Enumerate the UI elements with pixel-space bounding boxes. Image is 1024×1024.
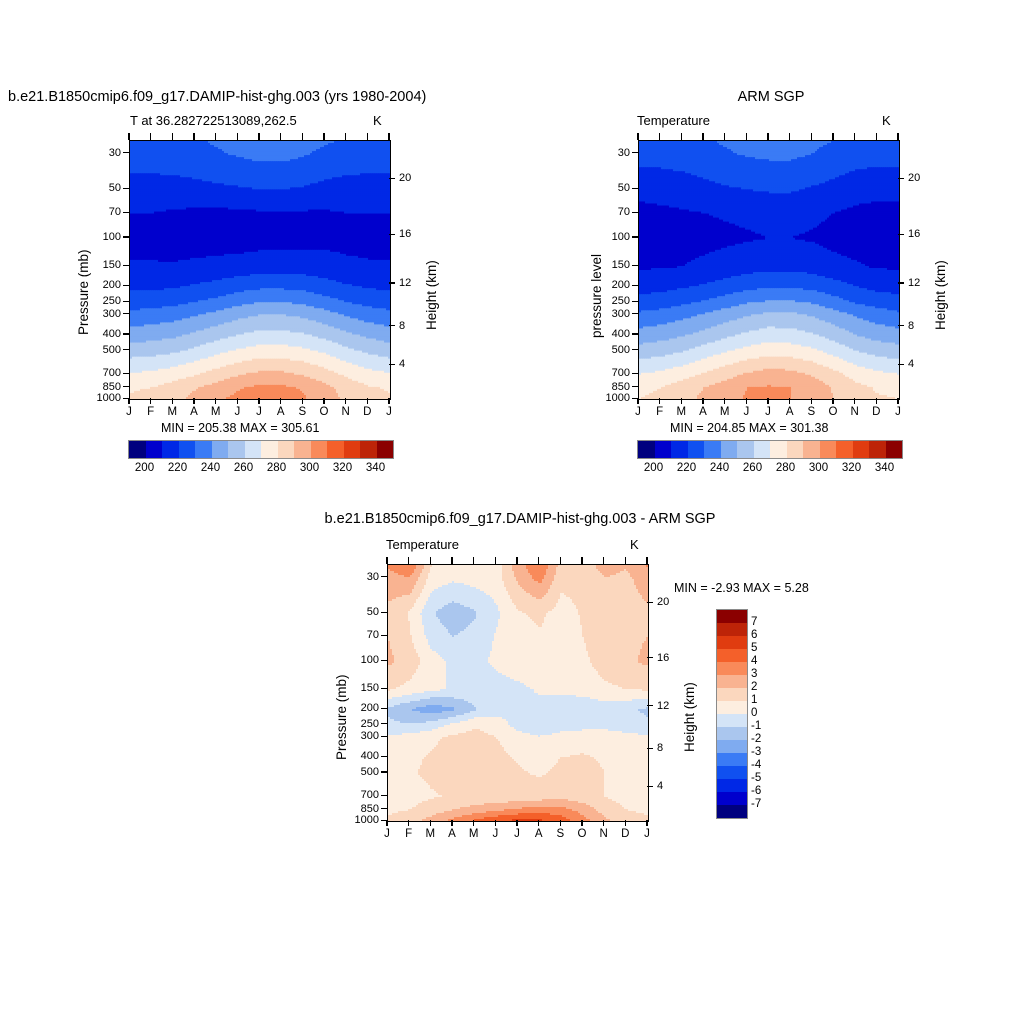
diff-panel-units: K bbox=[630, 537, 639, 552]
axis-tick-mark bbox=[323, 133, 324, 140]
diff-yaxis-right-label: Height (km) bbox=[682, 682, 697, 752]
axis-tick-mark bbox=[897, 133, 898, 140]
axis-tick-mark bbox=[237, 133, 238, 140]
colorbar-cell bbox=[344, 441, 361, 458]
colorbar-cell bbox=[836, 441, 853, 458]
month-tick-label: J bbox=[765, 406, 771, 418]
axis-tick-mark bbox=[150, 398, 151, 404]
axis-tick-mark bbox=[389, 282, 395, 283]
axis-tick-mark bbox=[538, 820, 539, 826]
axis-tick-mark bbox=[646, 557, 647, 564]
axis-tick-mark bbox=[473, 820, 474, 826]
month-tick-label: J bbox=[492, 828, 498, 840]
axis-tick-mark bbox=[637, 133, 638, 140]
axis-tick-mark bbox=[123, 301, 129, 302]
colorbar-cell bbox=[129, 441, 146, 458]
obs-yaxis-right-label: Height (km) bbox=[933, 260, 948, 330]
axis-tick-mark bbox=[172, 398, 173, 404]
obs-minmax-text: MIN = 204.85 MAX = 301.38 bbox=[670, 421, 828, 435]
colorbar-tick-label: 240 bbox=[201, 462, 220, 474]
axis-tick-mark bbox=[172, 133, 173, 140]
axis-tick-mark bbox=[646, 820, 647, 826]
axis-tick-mark bbox=[702, 133, 703, 140]
axis-tick-mark bbox=[767, 133, 768, 140]
model-yaxis-label: Pressure (mb) bbox=[76, 249, 91, 335]
axis-tick-mark bbox=[473, 557, 474, 564]
axis-tick-mark bbox=[123, 313, 129, 314]
axis-tick-mark bbox=[193, 398, 194, 404]
colorbar-cell bbox=[294, 441, 311, 458]
axis-tick-mark bbox=[237, 398, 238, 404]
axis-tick-mark bbox=[898, 364, 904, 365]
diff-colorbar[interactable] bbox=[716, 609, 748, 819]
month-tick-label: A bbox=[535, 828, 543, 840]
colorbar-cell bbox=[278, 441, 295, 458]
axis-tick-mark bbox=[632, 313, 638, 314]
axis-tick-mark bbox=[150, 133, 151, 140]
colorbar-cell bbox=[717, 701, 747, 714]
axis-tick-mark bbox=[702, 398, 703, 404]
axis-tick-mark bbox=[637, 398, 638, 404]
model-panel-units: K bbox=[373, 113, 382, 128]
month-tick-label: J bbox=[126, 406, 132, 418]
month-tick-label: N bbox=[342, 406, 350, 418]
pressure-tick-label: 700 bbox=[349, 789, 379, 801]
height-tick-label: 16 bbox=[657, 652, 669, 664]
axis-tick-mark bbox=[381, 660, 387, 661]
axis-tick-mark bbox=[647, 657, 653, 658]
axis-tick-mark bbox=[302, 133, 303, 140]
colorbar-cell bbox=[717, 688, 747, 701]
axis-tick-mark bbox=[123, 386, 129, 387]
colorbar-cell bbox=[717, 740, 747, 753]
pressure-tick-label: 850 bbox=[349, 803, 379, 815]
diff-yaxis-label: Pressure (mb) bbox=[334, 674, 349, 760]
pressure-tick-label: 850 bbox=[91, 381, 121, 393]
axis-tick-mark bbox=[345, 133, 346, 140]
axis-tick-mark bbox=[811, 398, 812, 404]
month-tick-label: M bbox=[469, 828, 479, 840]
month-tick-label: D bbox=[363, 406, 371, 418]
colorbar-cell bbox=[245, 441, 262, 458]
pressure-tick-label: 1000 bbox=[349, 814, 379, 826]
month-tick-label: A bbox=[699, 406, 707, 418]
axis-tick-mark bbox=[632, 212, 638, 213]
height-tick-label: 8 bbox=[657, 742, 663, 754]
pressure-tick-label: 250 bbox=[91, 295, 121, 307]
axis-tick-mark bbox=[681, 133, 682, 140]
colorbar-tick-label: 340 bbox=[366, 462, 385, 474]
pressure-tick-label: 850 bbox=[600, 381, 630, 393]
height-tick-label: 12 bbox=[908, 277, 920, 289]
month-tick-label: O bbox=[829, 406, 838, 418]
axis-tick-mark bbox=[302, 398, 303, 404]
pressure-tick-label: 100 bbox=[91, 231, 121, 243]
month-tick-label: J bbox=[895, 406, 901, 418]
colorbar-cell bbox=[803, 441, 820, 458]
colorbar-cell bbox=[377, 441, 394, 458]
diff-panel-title: b.e21.B1850cmip6.f09_g17.DAMIP-hist-ghg.… bbox=[325, 511, 716, 527]
axis-tick-mark bbox=[681, 398, 682, 404]
axis-tick-mark bbox=[724, 398, 725, 404]
colorbar-cell bbox=[146, 441, 163, 458]
axis-tick-mark bbox=[647, 705, 653, 706]
obs-panel-units: K bbox=[882, 113, 891, 128]
axis-tick-mark bbox=[560, 557, 561, 564]
month-tick-label: J bbox=[743, 406, 749, 418]
height-tick-label: 20 bbox=[908, 172, 920, 184]
colorbar-cell bbox=[638, 441, 655, 458]
colorbar-cell bbox=[869, 441, 886, 458]
axis-tick-mark bbox=[451, 557, 452, 564]
axis-tick-mark bbox=[603, 820, 604, 826]
pressure-tick-label: 100 bbox=[600, 231, 630, 243]
month-tick-label: A bbox=[190, 406, 198, 418]
axis-tick-mark bbox=[123, 188, 129, 189]
axis-tick-mark bbox=[123, 373, 129, 374]
axis-tick-mark bbox=[625, 820, 626, 826]
axis-tick-mark bbox=[128, 133, 129, 140]
colorbar-tick-label: -7 bbox=[751, 798, 761, 810]
colorbar-cell bbox=[717, 727, 747, 740]
axis-tick-mark bbox=[389, 364, 395, 365]
axis-tick-mark bbox=[647, 748, 653, 749]
axis-tick-mark bbox=[381, 708, 387, 709]
axis-tick-mark bbox=[451, 820, 452, 826]
axis-tick-mark bbox=[258, 133, 259, 140]
axis-tick-mark bbox=[516, 820, 517, 826]
colorbar-cell bbox=[704, 441, 721, 458]
pressure-tick-label: 70 bbox=[91, 206, 121, 218]
month-tick-label: S bbox=[807, 406, 815, 418]
axis-tick-mark bbox=[811, 133, 812, 140]
height-tick-label: 12 bbox=[657, 700, 669, 712]
axis-tick-mark bbox=[280, 133, 281, 140]
axis-tick-mark bbox=[215, 133, 216, 140]
colorbar-cell bbox=[717, 766, 747, 779]
axis-tick-mark bbox=[389, 234, 395, 235]
pressure-tick-label: 300 bbox=[600, 308, 630, 320]
pressure-tick-label: 700 bbox=[91, 367, 121, 379]
month-tick-label: M bbox=[168, 406, 178, 418]
colorbar-tick-label: 2 bbox=[751, 681, 757, 693]
axis-tick-mark bbox=[632, 386, 638, 387]
colorbar-cell bbox=[754, 441, 771, 458]
axis-tick-mark bbox=[495, 820, 496, 826]
colorbar-cell bbox=[717, 805, 747, 818]
model-contour-plot[interactable] bbox=[129, 140, 391, 400]
axis-tick-mark bbox=[659, 398, 660, 404]
height-tick-label: 8 bbox=[399, 320, 405, 332]
axis-tick-mark bbox=[898, 282, 904, 283]
pressure-tick-label: 500 bbox=[91, 344, 121, 356]
height-tick-label: 16 bbox=[399, 228, 411, 240]
colorbar-cell bbox=[671, 441, 688, 458]
obs-contour-plot[interactable] bbox=[638, 140, 900, 400]
pressure-tick-label: 150 bbox=[600, 259, 630, 271]
height-tick-label: 20 bbox=[657, 596, 669, 608]
month-tick-label: A bbox=[786, 406, 794, 418]
pressure-tick-label: 150 bbox=[349, 682, 379, 694]
colorbar-tick-label: -1 bbox=[751, 720, 761, 732]
colorbar-tick-label: 0 bbox=[751, 707, 757, 719]
colorbar-cell bbox=[886, 441, 903, 458]
colorbar-cell bbox=[212, 441, 229, 458]
model-minmax-text: MIN = 205.38 MAX = 305.61 bbox=[161, 421, 319, 435]
axis-tick-mark bbox=[258, 398, 259, 404]
axis-tick-mark bbox=[381, 576, 387, 577]
pressure-tick-label: 500 bbox=[349, 766, 379, 778]
axis-tick-mark bbox=[381, 723, 387, 724]
model-colorbar[interactable] bbox=[128, 440, 394, 459]
colorbar-cell bbox=[770, 441, 787, 458]
colorbar-tick-label: 280 bbox=[776, 462, 795, 474]
month-tick-label: M bbox=[211, 406, 221, 418]
axis-tick-mark bbox=[603, 557, 604, 564]
colorbar-tick-label: -2 bbox=[751, 733, 761, 745]
diff-panel-subtitle: Temperature bbox=[386, 537, 459, 552]
axis-tick-mark bbox=[123, 265, 129, 266]
axis-tick-mark bbox=[632, 236, 638, 237]
month-tick-label: M bbox=[677, 406, 687, 418]
month-tick-label: J bbox=[514, 828, 520, 840]
pressure-tick-label: 1000 bbox=[91, 392, 121, 404]
diff-contour-fill bbox=[388, 565, 648, 821]
diff-minmax-text: MIN = -2.93 MAX = 5.28 bbox=[674, 581, 809, 595]
axis-tick-mark bbox=[876, 398, 877, 404]
axis-tick-mark bbox=[381, 771, 387, 772]
axis-tick-mark bbox=[367, 398, 368, 404]
colorbar-tick-label: 220 bbox=[677, 462, 696, 474]
colorbar-tick-label: 4 bbox=[751, 655, 757, 667]
axis-tick-mark bbox=[345, 398, 346, 404]
axis-tick-mark bbox=[123, 349, 129, 350]
colorbar-tick-label: -5 bbox=[751, 772, 761, 784]
axis-tick-mark bbox=[123, 285, 129, 286]
pressure-tick-label: 1000 bbox=[600, 392, 630, 404]
axis-tick-mark bbox=[659, 133, 660, 140]
axis-tick-mark bbox=[898, 234, 904, 235]
month-tick-label: J bbox=[256, 406, 262, 418]
height-tick-label: 16 bbox=[908, 228, 920, 240]
pressure-tick-label: 200 bbox=[349, 702, 379, 714]
axis-tick-mark bbox=[381, 612, 387, 613]
month-tick-label: N bbox=[600, 828, 608, 840]
colorbar-tick-label: 260 bbox=[234, 462, 253, 474]
pressure-tick-label: 30 bbox=[600, 147, 630, 159]
colorbar-cell bbox=[717, 779, 747, 792]
axis-tick-mark bbox=[854, 398, 855, 404]
model-yaxis-right-label: Height (km) bbox=[424, 260, 439, 330]
height-tick-label: 8 bbox=[908, 320, 914, 332]
axis-tick-mark bbox=[897, 398, 898, 404]
month-tick-label: J bbox=[234, 406, 240, 418]
axis-tick-mark bbox=[581, 557, 582, 564]
colorbar-tick-label: 6 bbox=[751, 629, 757, 641]
axis-tick-mark bbox=[367, 133, 368, 140]
month-tick-label: A bbox=[448, 828, 456, 840]
colorbar-cell bbox=[688, 441, 705, 458]
axis-tick-mark bbox=[123, 212, 129, 213]
month-tick-label: M bbox=[720, 406, 730, 418]
obs-panel-subtitle: Temperature bbox=[637, 113, 710, 128]
axis-tick-mark bbox=[389, 178, 395, 179]
axis-tick-mark bbox=[381, 688, 387, 689]
colorbar-cell bbox=[787, 441, 804, 458]
axis-tick-mark bbox=[647, 786, 653, 787]
colorbar-tick-label: 220 bbox=[168, 462, 187, 474]
colorbar-cell bbox=[717, 610, 747, 623]
height-tick-label: 4 bbox=[399, 358, 405, 370]
axis-tick-mark bbox=[632, 188, 638, 189]
height-tick-label: 20 bbox=[399, 172, 411, 184]
axis-tick-mark bbox=[789, 133, 790, 140]
axis-tick-mark bbox=[898, 325, 904, 326]
axis-tick-mark bbox=[625, 557, 626, 564]
colorbar-cell bbox=[311, 441, 328, 458]
colorbar-cell bbox=[717, 662, 747, 675]
obs-panel-title: ARM SGP bbox=[738, 89, 805, 105]
colorbar-cell bbox=[717, 753, 747, 766]
month-tick-label: N bbox=[851, 406, 859, 418]
model-panel-title: b.e21.B1850cmip6.f09_g17.DAMIP-hist-ghg.… bbox=[8, 89, 426, 105]
pressure-tick-label: 70 bbox=[349, 629, 379, 641]
month-tick-label: D bbox=[872, 406, 880, 418]
axis-tick-mark bbox=[280, 398, 281, 404]
colorbar-tick-label: 3 bbox=[751, 668, 757, 680]
colorbar-tick-label: 300 bbox=[300, 462, 319, 474]
colorbar-tick-label: -4 bbox=[751, 759, 761, 771]
colorbar-tick-label: 7 bbox=[751, 616, 757, 628]
axis-tick-mark bbox=[386, 820, 387, 826]
axis-tick-mark bbox=[381, 635, 387, 636]
colorbar-tick-label: 320 bbox=[842, 462, 861, 474]
axis-tick-mark bbox=[516, 557, 517, 564]
axis-tick-mark bbox=[408, 557, 409, 564]
axis-tick-mark bbox=[746, 398, 747, 404]
axis-tick-mark bbox=[388, 133, 389, 140]
pressure-tick-label: 700 bbox=[600, 367, 630, 379]
axis-tick-mark bbox=[388, 398, 389, 404]
pressure-tick-label: 300 bbox=[91, 308, 121, 320]
month-tick-label: F bbox=[656, 406, 663, 418]
model-panel-subtitle: T at 36.282722513089,262.5 bbox=[130, 113, 297, 128]
colorbar-cell bbox=[717, 649, 747, 662]
colorbar-tick-label: 300 bbox=[809, 462, 828, 474]
axis-tick-mark bbox=[767, 398, 768, 404]
axis-tick-mark bbox=[724, 133, 725, 140]
axis-tick-mark bbox=[632, 349, 638, 350]
pressure-tick-label: 150 bbox=[91, 259, 121, 271]
obs-colorbar[interactable] bbox=[637, 440, 903, 459]
pressure-tick-label: 50 bbox=[349, 606, 379, 618]
colorbar-tick-label: 5 bbox=[751, 642, 757, 654]
axis-tick-mark bbox=[898, 178, 904, 179]
pressure-tick-label: 200 bbox=[600, 279, 630, 291]
colorbar-cell bbox=[195, 441, 212, 458]
colorbar-cell bbox=[261, 441, 278, 458]
colorbar-tick-label: 260 bbox=[743, 462, 762, 474]
colorbar-tick-label: 1 bbox=[751, 694, 757, 706]
axis-tick-mark bbox=[647, 602, 653, 603]
axis-tick-mark bbox=[389, 325, 395, 326]
colorbar-tick-label: -6 bbox=[751, 785, 761, 797]
pressure-tick-label: 400 bbox=[349, 750, 379, 762]
colorbar-cell bbox=[737, 441, 754, 458]
pressure-tick-label: 500 bbox=[600, 344, 630, 356]
pressure-tick-label: 250 bbox=[349, 718, 379, 730]
month-tick-label: A bbox=[277, 406, 285, 418]
pressure-tick-label: 300 bbox=[349, 730, 379, 742]
month-tick-label: J bbox=[635, 406, 641, 418]
axis-tick-mark bbox=[381, 756, 387, 757]
colorbar-cell bbox=[721, 441, 738, 458]
colorbar-tick-label: 320 bbox=[333, 462, 352, 474]
pressure-tick-label: 50 bbox=[91, 182, 121, 194]
height-tick-label: 4 bbox=[657, 780, 663, 792]
height-tick-label: 12 bbox=[399, 277, 411, 289]
axis-tick-mark bbox=[408, 820, 409, 826]
axis-tick-mark bbox=[746, 133, 747, 140]
month-tick-label: F bbox=[405, 828, 412, 840]
model-contour-fill bbox=[130, 141, 390, 399]
pressure-tick-label: 400 bbox=[600, 328, 630, 340]
axis-tick-mark bbox=[632, 373, 638, 374]
colorbar-cell bbox=[717, 623, 747, 636]
colorbar-cell bbox=[820, 441, 837, 458]
month-tick-label: O bbox=[320, 406, 329, 418]
axis-tick-mark bbox=[381, 808, 387, 809]
month-tick-label: M bbox=[426, 828, 436, 840]
pressure-tick-label: 200 bbox=[91, 279, 121, 291]
axis-tick-mark bbox=[386, 557, 387, 564]
colorbar-cell bbox=[162, 441, 179, 458]
colorbar-tick-label: -3 bbox=[751, 746, 761, 758]
axis-tick-mark bbox=[123, 333, 129, 334]
axis-tick-mark bbox=[430, 820, 431, 826]
pressure-tick-label: 30 bbox=[349, 571, 379, 583]
axis-tick-mark bbox=[632, 333, 638, 334]
pressure-tick-label: 30 bbox=[91, 147, 121, 159]
axis-tick-mark bbox=[581, 820, 582, 826]
colorbar-cell bbox=[327, 441, 344, 458]
colorbar-tick-label: 340 bbox=[875, 462, 894, 474]
axis-tick-mark bbox=[538, 557, 539, 564]
month-tick-label: J bbox=[386, 406, 392, 418]
axis-tick-mark bbox=[560, 820, 561, 826]
axis-tick-mark bbox=[876, 133, 877, 140]
colorbar-cell bbox=[228, 441, 245, 458]
axis-tick-mark bbox=[381, 795, 387, 796]
colorbar-cell bbox=[853, 441, 870, 458]
colorbar-cell bbox=[360, 441, 377, 458]
axis-tick-mark bbox=[632, 301, 638, 302]
month-tick-label: S bbox=[556, 828, 564, 840]
colorbar-tick-label: 200 bbox=[135, 462, 154, 474]
month-tick-label: J bbox=[384, 828, 390, 840]
colorbar-tick-label: 280 bbox=[267, 462, 286, 474]
colorbar-cell bbox=[717, 636, 747, 649]
axis-tick-mark bbox=[495, 557, 496, 564]
axis-tick-mark bbox=[832, 398, 833, 404]
diff-contour-plot[interactable] bbox=[387, 564, 649, 822]
axis-tick-mark bbox=[123, 236, 129, 237]
axis-tick-mark bbox=[215, 398, 216, 404]
axis-tick-mark bbox=[128, 398, 129, 404]
colorbar-tick-label: 240 bbox=[710, 462, 729, 474]
colorbar-tick-label: 200 bbox=[644, 462, 663, 474]
colorbar-cell bbox=[717, 675, 747, 688]
